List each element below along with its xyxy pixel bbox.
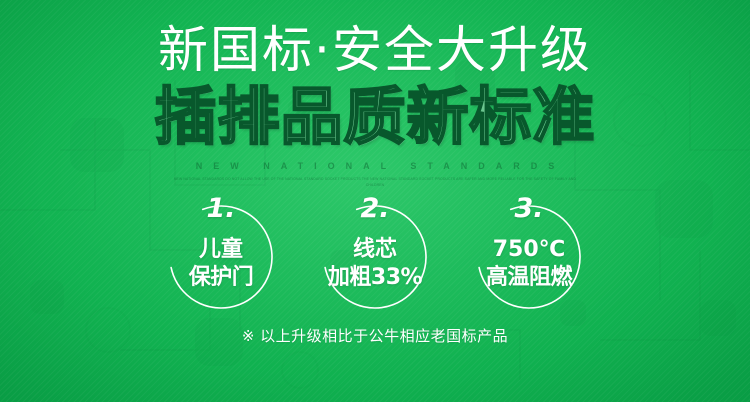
micro-description-text: NEW NATIONAL STANDARDS DO NOT ALLOW THE …: [165, 177, 585, 188]
badge-label: 线芯 加粗33%: [328, 236, 422, 292]
badge-number: 3.: [508, 195, 549, 222]
feature-badge-2: 2. 线芯 加粗33%: [320, 202, 430, 312]
badge-number: 1.: [200, 195, 241, 222]
feature-badge-3: 3. 750℃ 高温阻燃: [474, 202, 584, 312]
badge-label-line2: 高温阻燃: [486, 264, 572, 292]
footnote-disclaimer: ※ 以上升级相比于公牛相应老国标产品: [242, 326, 508, 346]
badge-label-line2: 保护门: [189, 264, 254, 292]
badge-label-line2: 加粗33%: [328, 264, 422, 292]
badge-label-line1: 750℃: [486, 236, 572, 264]
badge-label: 750℃ 高温阻燃: [486, 236, 572, 292]
badge-label-line1: 儿童: [189, 236, 254, 264]
badge-label-line1: 线芯: [328, 236, 422, 264]
badge-number: 2.: [354, 195, 395, 222]
feature-badge-group: 1. 儿童 保护门 2. 线芯 加粗33%: [166, 202, 584, 312]
headline-primary: 新国标·安全大升级: [158, 22, 592, 78]
feature-badge-1: 1. 儿童 保护门: [166, 202, 276, 312]
badge-label: 儿童 保护门: [189, 236, 254, 292]
promo-banner: 新国标·安全大升级 插排品质新标准 NEW NATIONAL STANDARDS…: [0, 0, 750, 402]
banner-content: 新国标·安全大升级 插排品质新标准 NEW NATIONAL STANDARDS…: [0, 0, 750, 402]
english-subline: NEW NATIONAL STANDARDS: [185, 160, 566, 172]
headline-secondary: 插排品质新标准: [154, 82, 595, 152]
